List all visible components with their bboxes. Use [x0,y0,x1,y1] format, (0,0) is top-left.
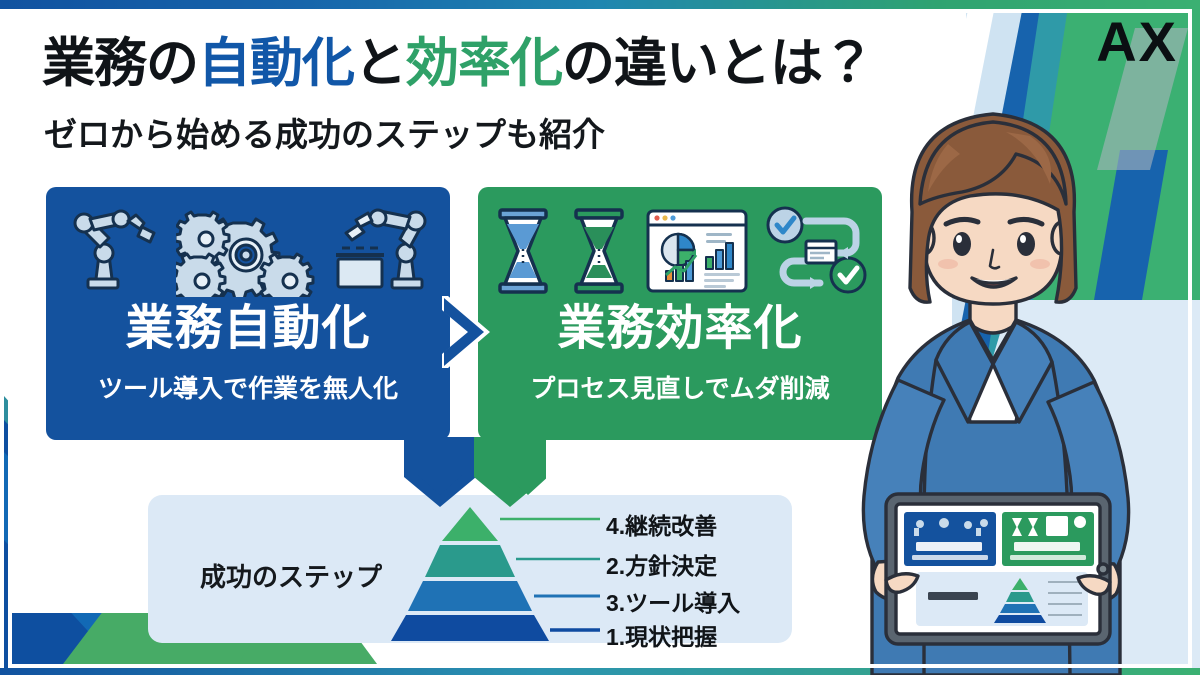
pyramid-tier-3 [408,581,532,611]
dashboard-chart-icon [644,205,750,297]
tablet-mini-title-blue [916,542,982,551]
card-automation-title: 業務自動化 [46,305,450,353]
hourglass-icon [568,205,630,297]
businesswoman-illustration [820,92,1200,675]
hourglass-icon [492,205,554,297]
arrow-down-efficiency-icon [474,437,546,509]
title-part-1: 業務の [42,34,198,93]
title-part-question: の違いとは？ [562,34,874,93]
infographic-canvas: AX 業務の自動化と効率化の違いとは？ ゼロから始める成功のステップも紹介 [0,0,1200,675]
pyramid-tier-4 [442,507,498,541]
pyramid-tier-1 [391,615,549,641]
ax-logo: AX [1096,14,1178,70]
arrow-down-automation-icon [404,437,476,509]
step-label-2: 2.方針決定 [606,547,717,581]
steps-panel: 成功のステップ 4.継続改善 2.方針決定 3.ツール導入 1.現状把握 [148,495,792,643]
title-part-automation: 自動化 [198,34,354,93]
arrow-right-icon [438,292,516,372]
robot-arm-icon [66,207,162,295]
title-part-efficiency: 効率化 [406,34,562,93]
step-label-3: 3.ツール導入 [606,584,740,618]
step-label-4: 4.継続改善 [606,507,717,541]
step-label-1: 1.現状把握 [606,618,717,652]
card-automation-subtitle: ツール導入で作業を無人化 [46,369,450,405]
top-gradient-band [0,0,1200,9]
page-subtitle: ゼロから始める成功のステップも紹介 [44,108,605,156]
tablet-mini-title-green [1014,542,1080,551]
tablet-mini-panel-title [928,592,978,600]
gears-icon [176,205,316,297]
pyramid-tier-2 [425,545,515,577]
title-part-and: と [354,34,406,93]
page-title: 業務の自動化と効率化の違いとは？ [42,34,1052,93]
robot-arm-bin-icon [330,207,430,295]
card-automation: 業務自動化 ツール導入で作業を無人化 [46,187,450,440]
card-automation-icons [46,201,450,301]
